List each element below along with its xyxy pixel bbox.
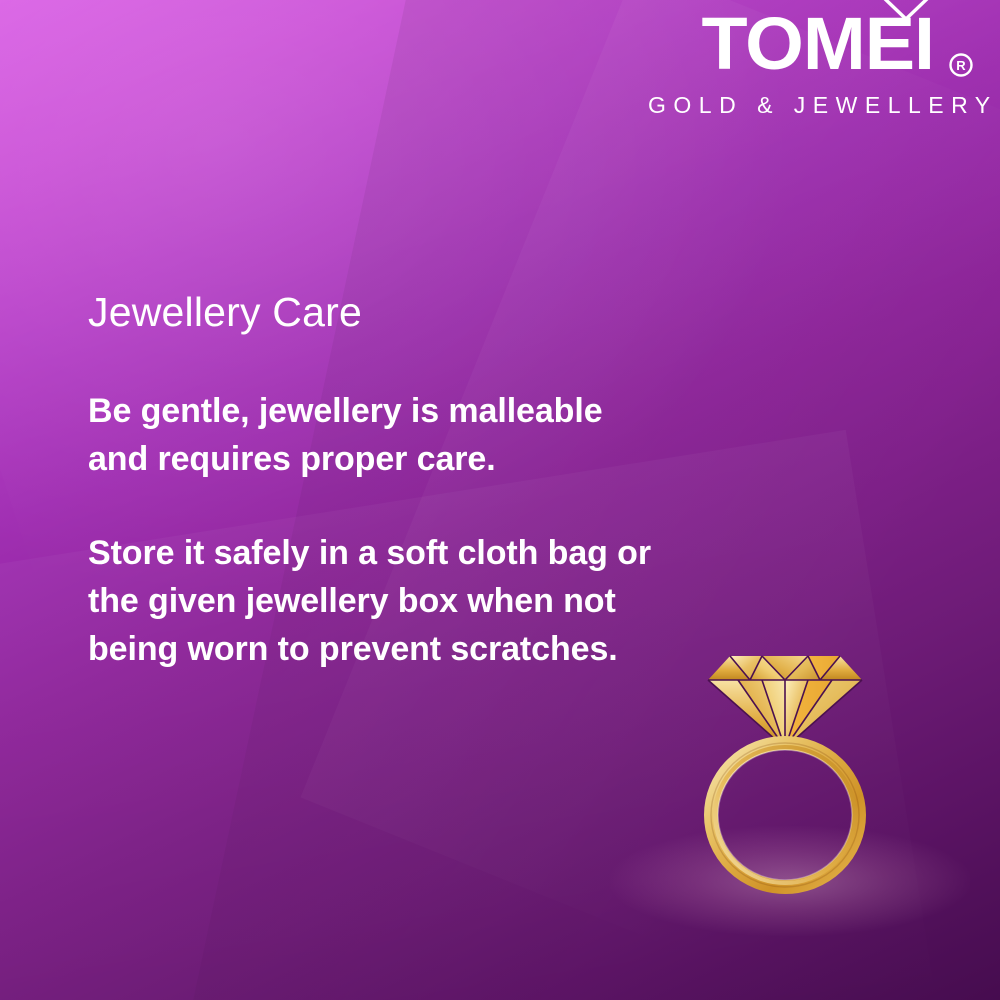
logo-wordmark-row: TOMEI R <box>648 8 978 80</box>
registered-trademark-icon: R <box>948 52 974 78</box>
brand-logo: TOMEI R GOLD & JEWELLERY <box>648 8 978 119</box>
jewellery-care-poster: TOMEI R GOLD & JEWELLERY Jewellery Care … <box>0 0 1000 1000</box>
logo-brand-name: TOMEI <box>701 8 934 80</box>
diamond-ring-illustration <box>690 640 880 940</box>
care-paragraph-2: Store it safely in a soft cloth bag or t… <box>88 530 668 674</box>
care-copy-block: Jewellery Care Be gentle, jewellery is m… <box>88 290 668 674</box>
ring-band-icon <box>711 743 859 887</box>
logo-tagline: GOLD & JEWELLERY <box>648 92 974 119</box>
svg-text:R: R <box>956 58 966 73</box>
diamond-ring-graphic <box>690 640 880 940</box>
page-title: Jewellery Care <box>88 290 668 336</box>
care-paragraph-1: Be gentle, jewellery is malleable and re… <box>88 388 668 484</box>
gem-crown <box>708 656 862 680</box>
